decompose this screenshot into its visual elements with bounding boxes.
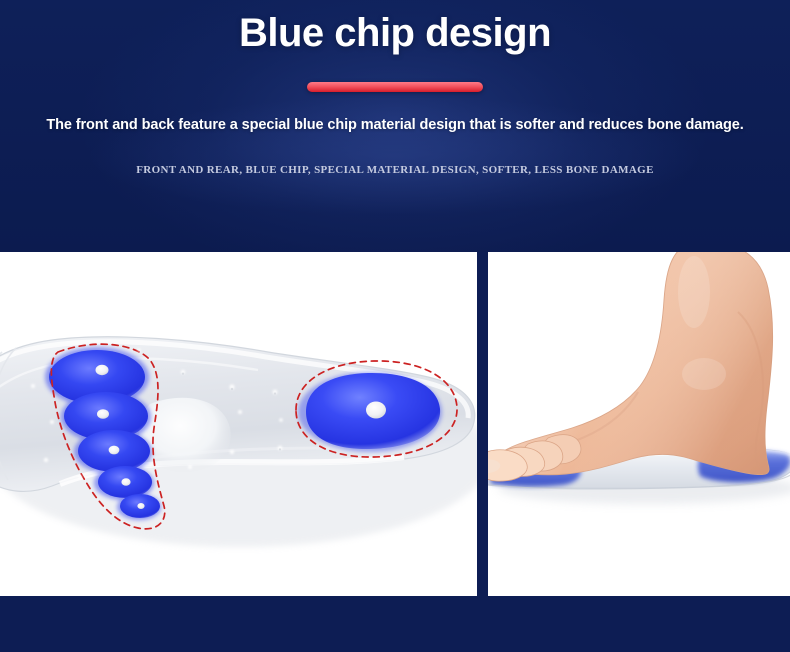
gel-chip (120, 494, 160, 518)
caption-text: FRONT AND REAR, BLUE CHIP, SPECIAL MATER… (0, 162, 790, 178)
page-title: Blue chip design (0, 8, 790, 58)
insole-top-view-illustration (0, 252, 477, 596)
gel-chip (78, 430, 150, 472)
foot-on-insole-illustration (488, 252, 790, 596)
gel-chip (98, 466, 152, 498)
footer-section (0, 596, 790, 652)
insole-top-view-photo (0, 252, 477, 596)
header-section: Blue chip design The front and back feat… (0, 0, 790, 252)
title-divider (307, 82, 483, 92)
arch-support-bump (139, 398, 231, 473)
subtitle-text: The front and back feature a special blu… (0, 114, 790, 136)
photo-band (0, 252, 790, 596)
heel-gel-chip (298, 372, 442, 452)
product-feature-banner: Blue chip design The front and back feat… (0, 0, 790, 652)
foot-on-insole-photo (488, 252, 790, 596)
